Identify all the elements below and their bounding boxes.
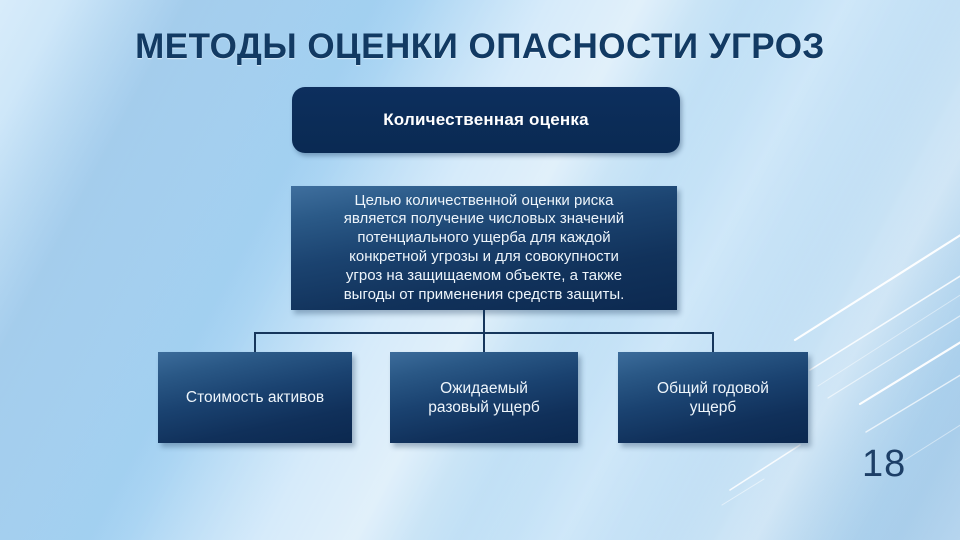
diagram-leaf-label: Общий годовой ущерб xyxy=(649,379,777,417)
connector-vertical-trunk xyxy=(483,310,485,333)
diagram-leaf-node-asset-value[interactable]: Стоимость активов xyxy=(158,352,352,443)
diagram-leaf-node-annual-loss[interactable]: Общий годовой ущерб xyxy=(618,352,808,443)
page-title: МЕТОДЫ ОЦЕНКИ ОПАСНОСТИ УГРОЗ xyxy=(0,27,960,67)
connector-drop-middle xyxy=(483,332,485,353)
diagram-header-label: Количественная оценка xyxy=(383,110,589,130)
diagram-header-node[interactable]: Количественная оценка xyxy=(292,87,680,153)
diagram-leaf-node-single-loss[interactable]: Ожидаемый разовый ущерб xyxy=(390,352,578,443)
diagram-description-text: Целью количественной оценки риска являет… xyxy=(338,192,631,305)
presentation-slide: МЕТОДЫ ОЦЕНКИ ОПАСНОСТИ УГРОЗ Количестве… xyxy=(0,0,960,540)
diagram-leaf-label: Стоимость активов xyxy=(178,388,332,407)
diagram-leaf-label: Ожидаемый разовый ущерб xyxy=(420,379,547,417)
connector-drop-left xyxy=(254,332,256,353)
page-number: 18 xyxy=(862,443,906,486)
connector-drop-right xyxy=(712,332,714,353)
diagram-description-node[interactable]: Целью количественной оценки риска являет… xyxy=(291,186,677,310)
